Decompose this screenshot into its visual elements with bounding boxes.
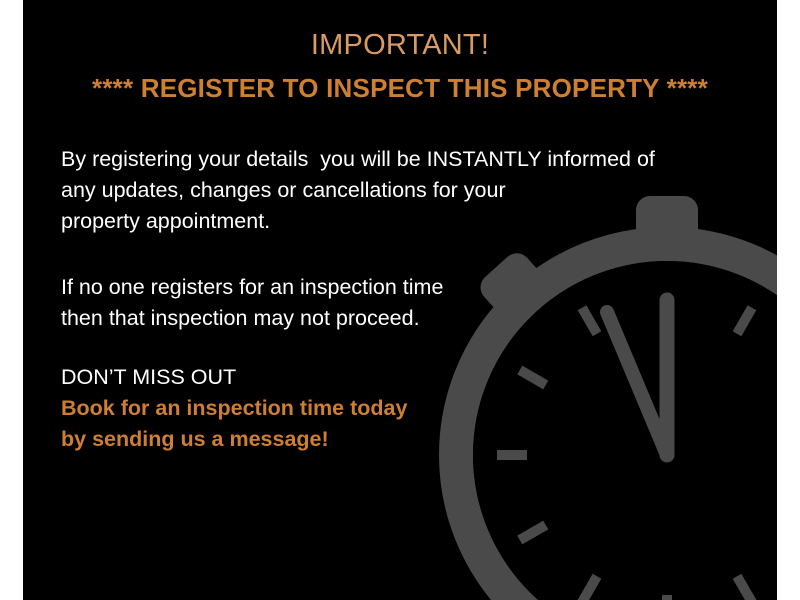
headline-block: IMPORTANT! **** REGISTER TO INSPECT THIS… xyxy=(23,26,777,108)
cta-book-inspection: Book for an inspection time today xyxy=(61,393,751,424)
slide-content: IMPORTANT! **** REGISTER TO INSPECT THIS… xyxy=(23,0,777,600)
headline-important: IMPORTANT! xyxy=(23,26,777,64)
noshow-line-1: If no one registers for an inspection ti… xyxy=(61,272,751,303)
register-line-2: any updates, changes or cancellations fo… xyxy=(61,175,751,206)
slide-canvas: IMPORTANT! **** REGISTER TO INSPECT THIS… xyxy=(0,0,800,600)
paragraph-call-to-action: DON’T MISS OUT Book for an inspection ti… xyxy=(61,362,751,455)
paragraph-no-registration-warning: If no one registers for an inspection ti… xyxy=(61,272,751,334)
paragraph-register-benefits: By registering your details you will be … xyxy=(61,144,751,237)
headline-register-to-inspect: **** REGISTER TO INSPECT THIS PROPERTY *… xyxy=(23,68,777,108)
slide-background: IMPORTANT! **** REGISTER TO INSPECT THIS… xyxy=(23,0,777,600)
cta-dont-miss-out: DON’T MISS OUT xyxy=(61,362,751,393)
register-line-1: By registering your details you will be … xyxy=(61,144,751,175)
noshow-line-2: then that inspection may not proceed. xyxy=(61,303,751,334)
cta-send-message: by sending us a message! xyxy=(61,424,751,455)
register-line-3: property appointment. xyxy=(61,206,751,237)
